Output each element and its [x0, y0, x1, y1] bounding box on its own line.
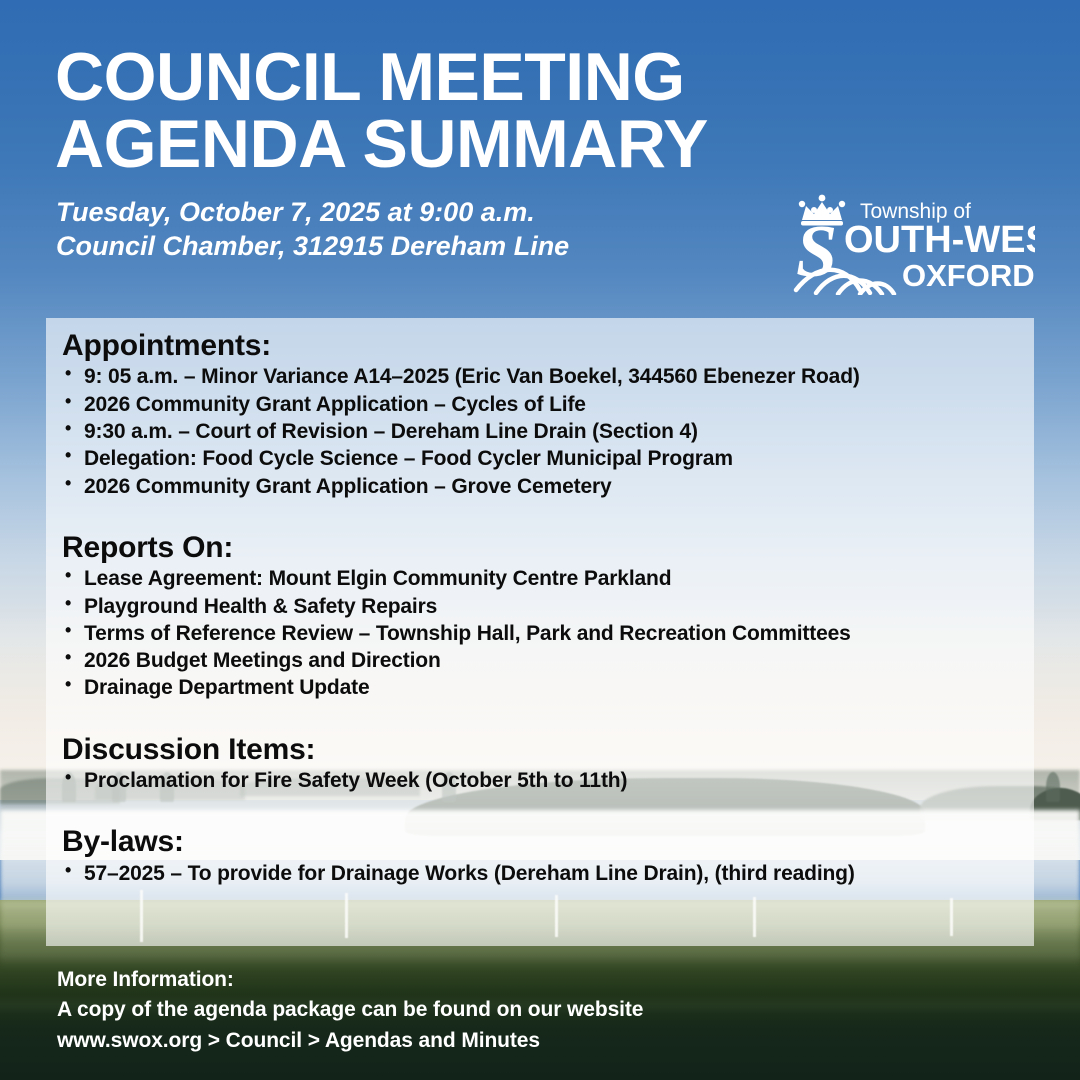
agenda-item: Drainage Department Update — [62, 674, 1034, 701]
footer-description: A copy of the agenda package can be foun… — [57, 995, 857, 1025]
agenda-item: Delegation: Food Cycle Science – Food Cy… — [62, 445, 1034, 472]
agenda-section: Discussion Items:Proclamation for Fire S… — [62, 732, 1034, 795]
tree-tuft — [1046, 772, 1060, 802]
logo-svg: S Township of OUTH-WEST OXFORD — [790, 190, 1035, 295]
agenda-item: Proclamation for Fire Safety Week (Octob… — [62, 767, 1034, 794]
title-line-2: AGENDA SUMMARY — [55, 111, 820, 178]
agenda-item: Lease Agreement: Mount Elgin Community C… — [62, 565, 1034, 592]
township-logo: S Township of OUTH-WEST OXFORD — [790, 190, 1035, 295]
agenda-item: Playground Health & Safety Repairs — [62, 593, 1034, 620]
agenda-item: 9: 05 a.m. – Minor Variance A14–2025 (Er… — [62, 363, 1034, 390]
agenda-item: 2026 Community Grant Application – Cycle… — [62, 391, 1034, 418]
logo-name-line-1: OUTH-WEST — [844, 219, 1035, 261]
section-spacer — [62, 794, 1034, 824]
footer-website-path: www.swox.org > Council > Agendas and Min… — [57, 1026, 857, 1056]
agenda-section: By-laws:57–2025 – To provide for Drainag… — [62, 824, 1034, 887]
section-heading: Appointments: — [62, 328, 1034, 363]
agenda-item-list: Lease Agreement: Mount Elgin Community C… — [62, 565, 1034, 701]
agenda-item: 2026 Budget Meetings and Direction — [62, 647, 1034, 674]
agenda-section: Reports On:Lease Agreement: Mount Elgin … — [62, 530, 1034, 702]
page-title: COUNCIL MEETING AGENDA SUMMARY — [0, 0, 820, 179]
agenda-item: 9:30 a.m. – Court of Revision – Dereham … — [62, 418, 1034, 445]
logo-name-line-2: OXFORD — [902, 258, 1035, 293]
agenda-item-list: 57–2025 – To provide for Drainage Works … — [62, 860, 1034, 887]
agenda-item: 2026 Community Grant Application – Grove… — [62, 473, 1034, 500]
agenda-panel: Appointments:9: 05 a.m. – Minor Variance… — [46, 318, 1034, 946]
section-spacer — [62, 702, 1034, 732]
section-spacer — [62, 500, 1034, 530]
footer: More Information: A copy of the agenda p… — [57, 965, 857, 1056]
title-line-1: COUNCIL MEETING — [55, 44, 820, 111]
section-heading: By-laws: — [62, 824, 1034, 859]
field-stripe — [0, 948, 1080, 958]
agenda-item: 57–2025 – To provide for Drainage Works … — [62, 860, 1034, 887]
section-heading: Reports On: — [62, 530, 1034, 565]
agenda-item: Terms of Reference Review – Township Hal… — [62, 620, 1034, 647]
more-information-label: More Information: — [57, 965, 857, 995]
agenda-item-list: Proclamation for Fire Safety Week (Octob… — [62, 767, 1034, 794]
agenda-section: Appointments:9: 05 a.m. – Minor Variance… — [62, 328, 1034, 500]
agenda-item-list: 9: 05 a.m. – Minor Variance A14–2025 (Er… — [62, 363, 1034, 499]
section-heading: Discussion Items: — [62, 732, 1034, 767]
